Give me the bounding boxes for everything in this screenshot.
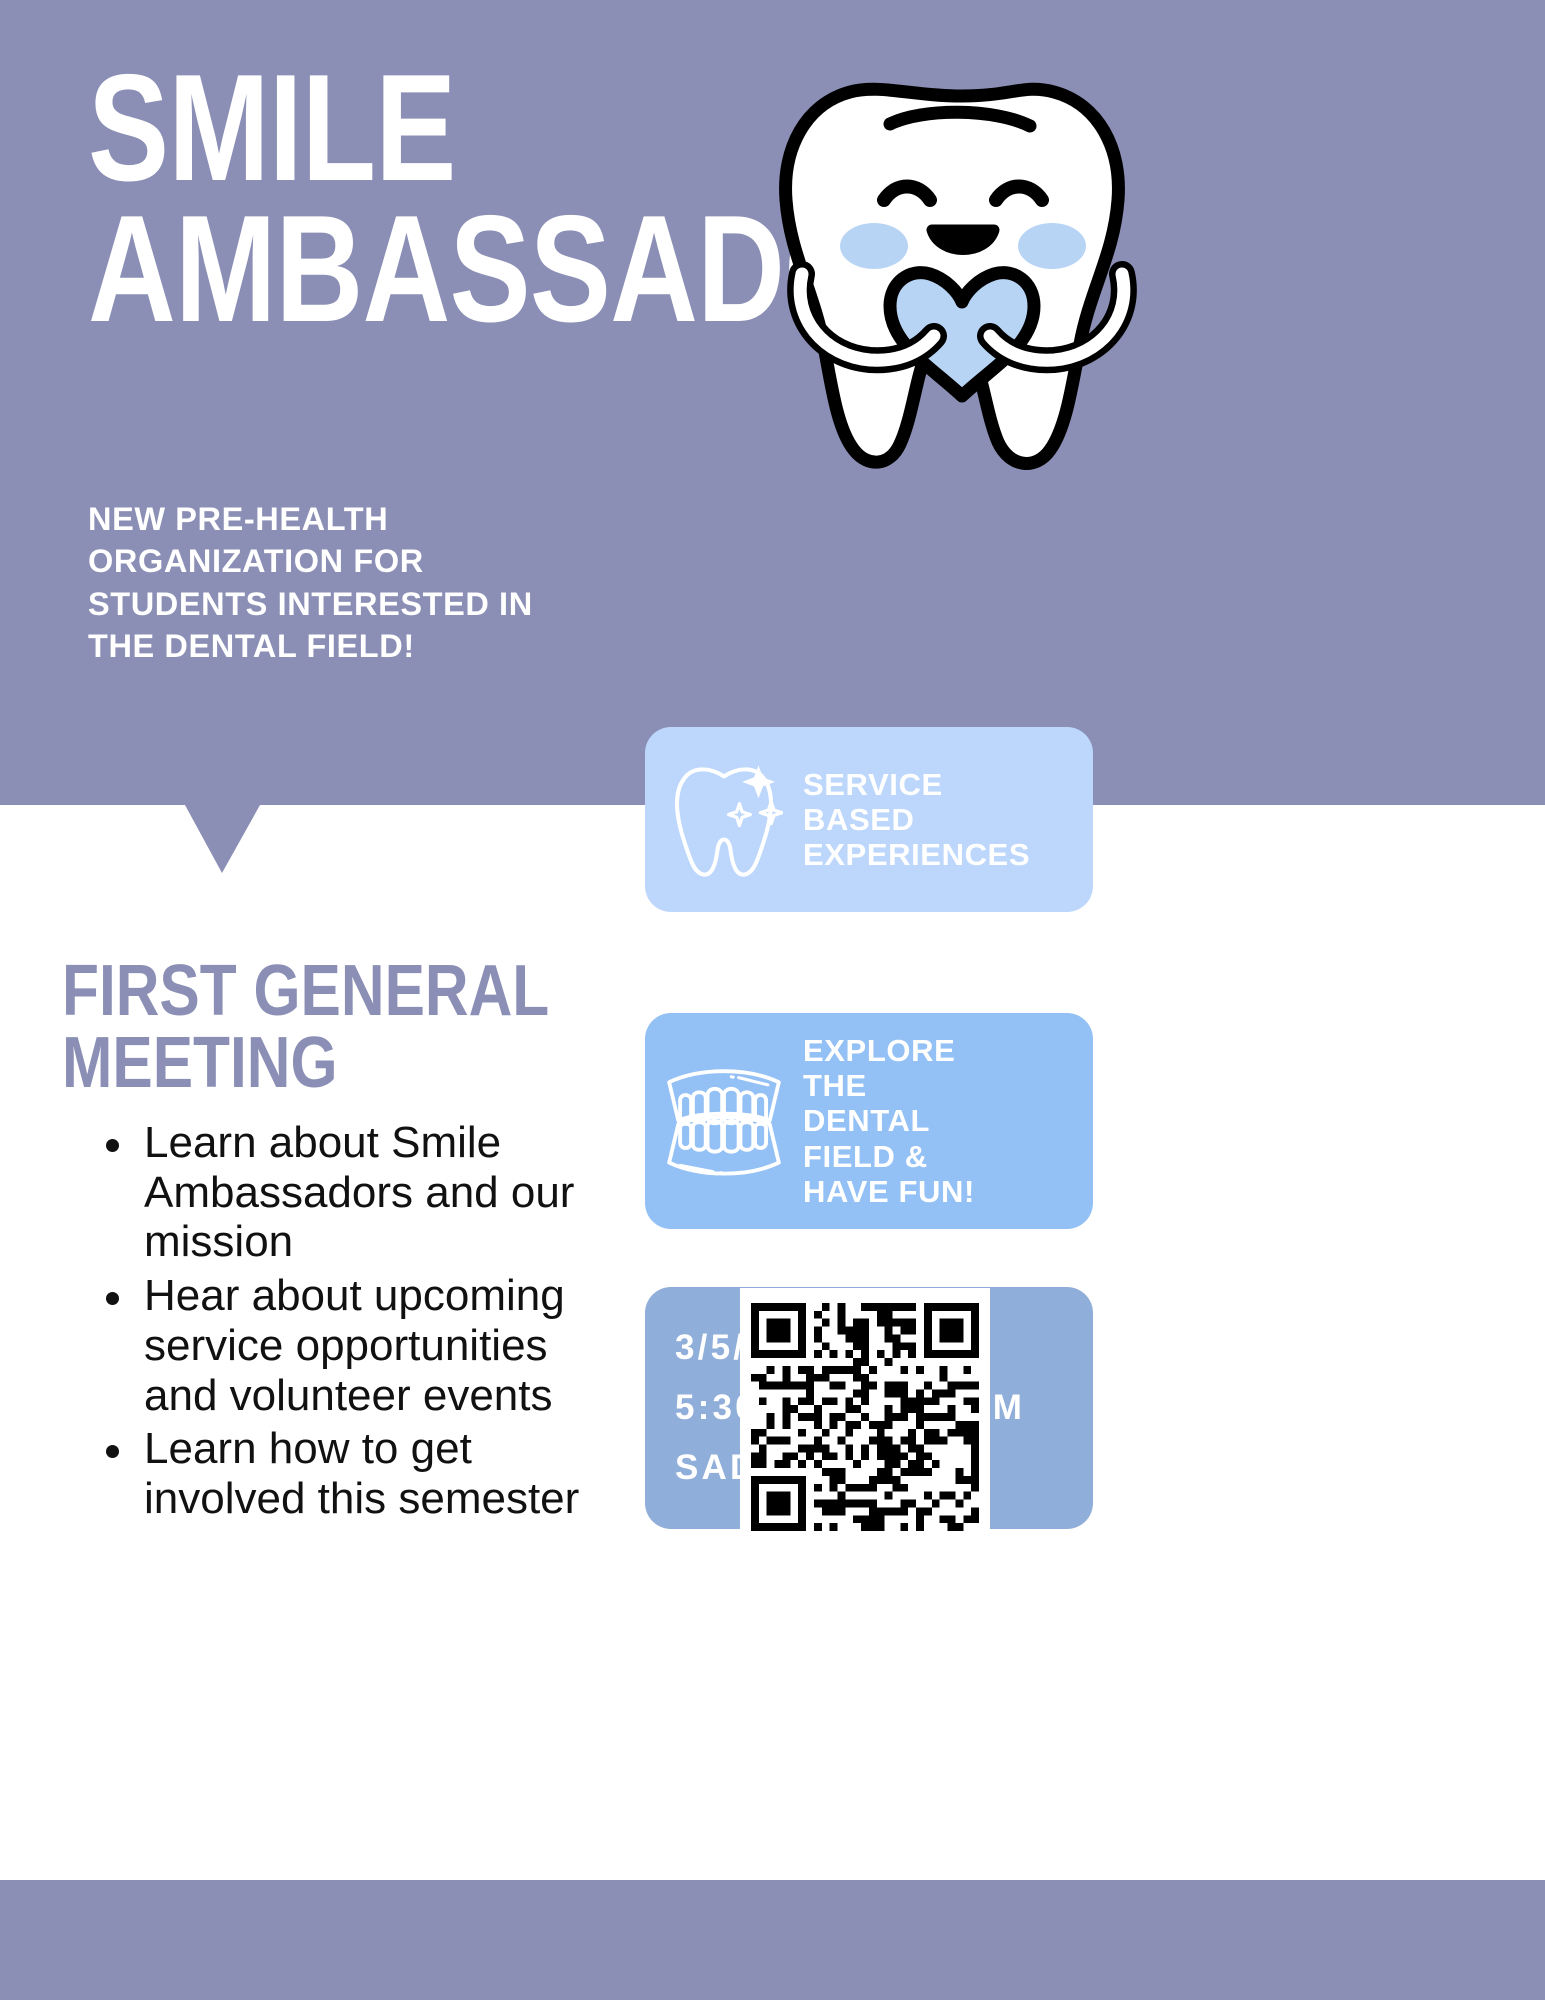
card-2-line-1: EXPLORE — [803, 1033, 975, 1068]
card-service-based-experiences: SERVICE BASED EXPERIENCES — [645, 727, 1093, 912]
subtitle-line-4: THE DENTAL FIELD! — [88, 625, 708, 667]
list-item: Learn about Smile Ambassadors and our mi… — [86, 1118, 626, 1267]
header-speech-pointer — [185, 805, 260, 873]
list-item: Hear about upcoming service opportunitie… — [86, 1271, 626, 1420]
poster-subtitle: NEW PRE-HEALTH ORGANIZATION FOR STUDENTS… — [88, 498, 708, 667]
card-1-line-2: BASED — [803, 802, 1030, 837]
subtitle-line-2: ORGANIZATION FOR — [88, 540, 708, 582]
meeting-heading: FIRST GENERAL MEETING — [62, 955, 650, 1099]
card-2-line-5: HAVE FUN! — [803, 1174, 975, 1209]
card-1-line-3: EXPERIENCES — [803, 837, 1030, 872]
title-line-2: AMBASSADORS — [88, 199, 664, 340]
dentures-icon — [645, 1062, 803, 1181]
card-1-line-1: SERVICE — [803, 767, 1030, 802]
sparkling-tooth-icon — [645, 756, 803, 884]
qr-code[interactable] — [740, 1288, 990, 1546]
page-title: SMILE AMBASSADORS — [88, 58, 664, 341]
card-explore-dental-field: EXPLORE THE DENTAL FIELD & HAVE FUN! — [645, 1013, 1093, 1229]
subtitle-line-3: STUDENTS INTERESTED IN — [88, 583, 708, 625]
subtitle-line-1: NEW PRE-HEALTH — [88, 498, 708, 540]
card-2-line-2: THE — [803, 1068, 975, 1103]
tooth-mascot-icon — [762, 78, 1162, 478]
cheek-left — [840, 223, 908, 269]
card-2-line-4: FIELD & — [803, 1139, 975, 1174]
cheek-right — [1018, 223, 1086, 269]
meeting-bullet-list: Learn about Smile Ambassadors and our mi… — [86, 1118, 626, 1528]
card-2-line-3: DENTAL — [803, 1103, 975, 1138]
list-item: Learn how to get involved this semester — [86, 1424, 626, 1523]
footer-band — [0, 1880, 1545, 2000]
card-service-text: SERVICE BASED EXPERIENCES — [803, 767, 1030, 872]
card-explore-text: EXPLORE THE DENTAL FIELD & HAVE FUN! — [803, 1033, 975, 1208]
